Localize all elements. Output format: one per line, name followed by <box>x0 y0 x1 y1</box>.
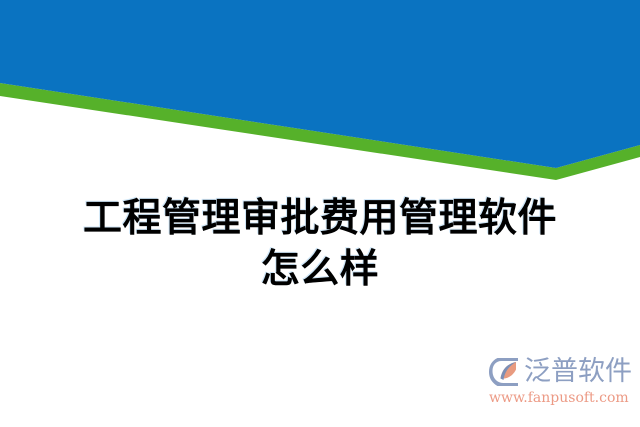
title-line-1: 工程管理审批费用管理软件 <box>0 193 640 244</box>
brand-name-text: 泛普软件 <box>524 357 632 387</box>
fanpu-logo-icon <box>488 356 522 388</box>
page-title: 工程管理审批费用管理软件 怎么样 <box>0 193 640 295</box>
brand-logo: 泛普软件 www.fanpusoft.com <box>488 353 632 415</box>
header-decoration <box>0 0 640 180</box>
brand-url-text: www.fanpusoft.com <box>489 389 629 407</box>
banner-image: 工程管理审批费用管理软件 怎么样 泛普软件 www.fanpusoft.com <box>0 0 640 427</box>
title-line-2: 怎么样 <box>0 244 640 295</box>
logo-row: 泛普软件 <box>488 353 632 391</box>
